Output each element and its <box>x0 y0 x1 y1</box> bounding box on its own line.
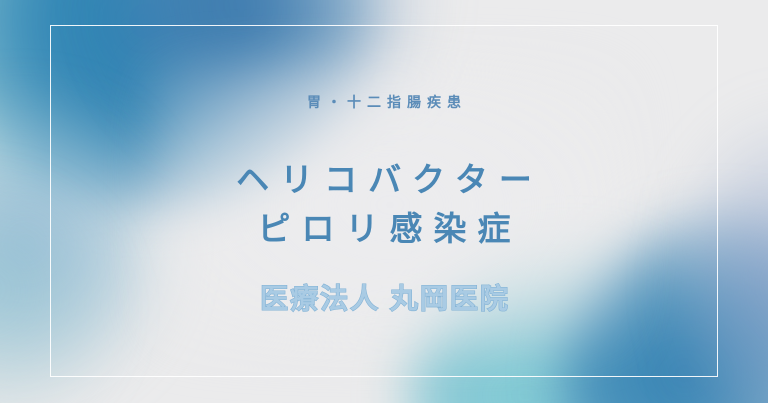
page-title-line-2: ピロリ感染症 <box>0 204 768 253</box>
page-title-line-1: ヘリコバクター <box>0 155 768 204</box>
hero-content: 胃・十二指腸疾患 ヘリコバクター ピロリ感染症 医療法人 丸岡医院 <box>0 0 768 403</box>
page-title: ヘリコバクター ピロリ感染症 <box>0 155 768 253</box>
clinic-name-label: 医療法人 丸岡医院 <box>0 277 768 317</box>
eyebrow-category-label: 胃・十二指腸疾患 <box>0 92 768 112</box>
hero-banner: 胃・十二指腸疾患 ヘリコバクター ピロリ感染症 医療法人 丸岡医院 <box>0 0 768 403</box>
